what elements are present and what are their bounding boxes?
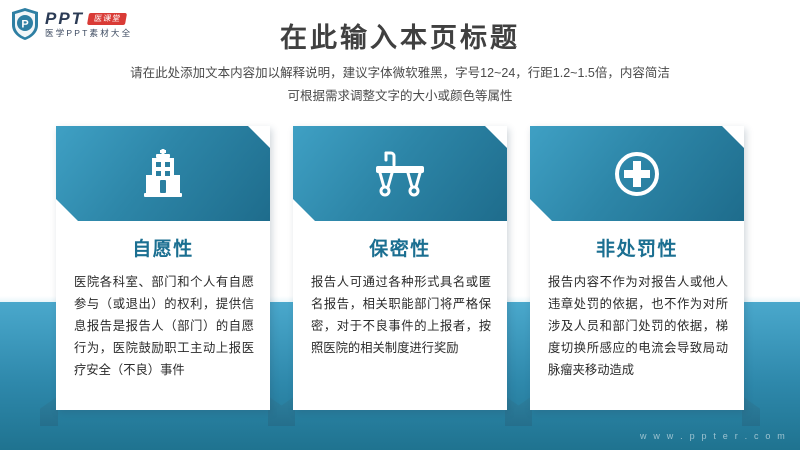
card-text: 报告人可通过各种形式具名或匿名报告，相关职能部门将严格保密，对于不良事件的上报者… bbox=[311, 272, 491, 360]
subtitle-line-1: 请在此处添加文本内容加以解释说明，建议字体微软雅黑，字号12~24，行距1.2~… bbox=[0, 62, 800, 85]
card-item[interactable]: 非处罚性 报告内容不作为对报告人或他人违章处罚的依据，也不作为对所涉及人员和部门… bbox=[530, 126, 744, 410]
card-header bbox=[293, 126, 507, 221]
card-header bbox=[56, 126, 270, 221]
card-header bbox=[530, 126, 744, 221]
medical-cross-circle-icon bbox=[612, 149, 662, 199]
card-title: 自愿性 bbox=[56, 234, 270, 261]
subtitle-line-2: 可根据需求调整文字的大小或颜色等属性 bbox=[0, 85, 800, 108]
card-item[interactable]: 保密性 报告人可通过各种形式具名或匿名报告，相关职能部门将严格保密，对于不良事件… bbox=[293, 126, 507, 410]
card-title: 非处罚性 bbox=[530, 234, 744, 261]
card-list: 自愿性 医院各科室、部门和个人有自愿参与（或退出）的权利，提供信息报告是报告人（… bbox=[56, 126, 744, 410]
card-item[interactable]: 自愿性 医院各科室、部门和个人有自愿参与（或退出）的权利，提供信息报告是报告人（… bbox=[56, 126, 270, 410]
card-text: 医院各科室、部门和个人有自愿参与（或退出）的权利，提供信息报告是报告人（部门）的… bbox=[74, 272, 254, 381]
page-title: 在此输入本页标题 bbox=[0, 16, 800, 55]
card-title: 保密性 bbox=[293, 234, 507, 261]
card-text: 报告内容不作为对报告人或他人违章处罚的依据，也不作为对所涉及人员和部门处罚的依据… bbox=[548, 272, 728, 381]
watermark: w w w . p p t e r . c o m bbox=[640, 431, 787, 441]
hospital-bed-icon bbox=[370, 149, 430, 199]
page-subtitle: 请在此处添加文本内容加以解释说明，建议字体微软雅黑，字号12~24，行距1.2~… bbox=[0, 62, 800, 108]
hospital-building-icon bbox=[140, 149, 186, 199]
